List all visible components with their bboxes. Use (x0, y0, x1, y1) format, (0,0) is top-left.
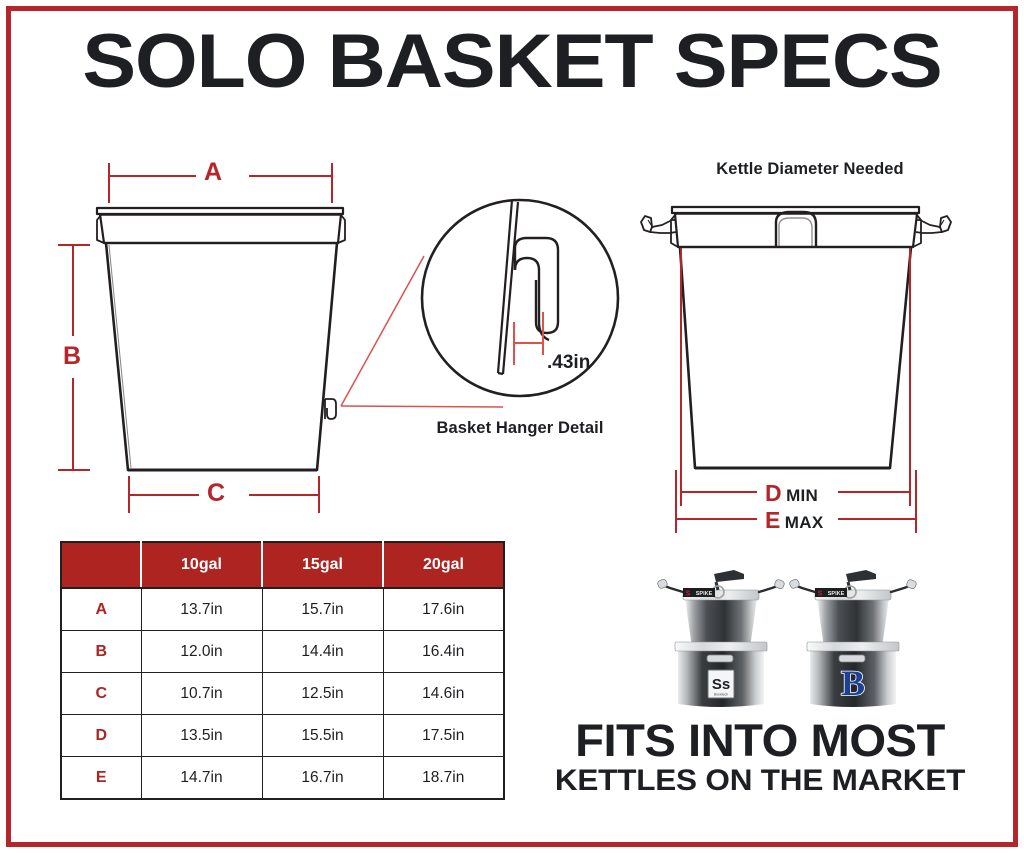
kettle-photo-blichmann: S SPIKE B (788, 552, 918, 712)
table-header-20gal: 20gal (383, 542, 504, 588)
cell-e-20gal: 18.7in (383, 757, 504, 800)
dimension-label-b: B (63, 344, 81, 369)
dimension-letter-e: E (765, 507, 780, 533)
table-row: C 10.7in 12.5in 14.6in (61, 673, 504, 715)
footer-subheadline: KETTLES ON THE MARKET (529, 766, 991, 796)
cell-a-15gal: 15.7in (262, 588, 383, 631)
dimension-letter-d: D (765, 480, 782, 506)
svg-text:SPIKE: SPIKE (828, 591, 845, 597)
cell-b-15gal: 14.4in (262, 631, 383, 673)
dimension-unit-max: MAX (785, 513, 824, 532)
footer-headline: FITS INTO MOST (529, 718, 991, 763)
page-title: SOLO BASKET SPECS (0, 24, 1024, 100)
ss-badge-text: Ss (712, 676, 730, 693)
kettle-photo-ss-brewtech: S SPIKE Ss Brewtech (656, 552, 786, 712)
svg-text:Brewtech: Brewtech (714, 693, 728, 697)
cell-c-20gal: 14.6in (383, 673, 504, 715)
cell-c-10gal: 10.7in (141, 673, 262, 715)
cell-e-10gal: 14.7in (141, 757, 262, 800)
table-header-15gal: 15gal (262, 542, 383, 588)
svg-text:S: S (818, 591, 823, 598)
spec-table-head: 10gal 15gal 20gal (61, 542, 504, 588)
table-header-row: 10gal 15gal 20gal (61, 542, 504, 588)
cell-b-10gal: 12.0in (141, 631, 262, 673)
row-label-e: E (61, 757, 141, 800)
table-row: D 13.5in 15.5in 17.5in (61, 715, 504, 757)
svg-text:S: S (686, 591, 691, 598)
cell-d-10gal: 13.5in (141, 715, 262, 757)
b-badge-text: B (841, 663, 865, 703)
cell-d-15gal: 15.5in (262, 715, 383, 757)
row-label-c: C (61, 673, 141, 715)
table-header-10gal: 10gal (141, 542, 262, 588)
cell-e-15gal: 16.7in (262, 757, 383, 800)
kettle-photo-group: S SPIKE Ss Brewtech (648, 552, 928, 717)
cell-b-20gal: 16.4in (383, 631, 504, 673)
table-row: E 14.7in 16.7in 18.7in (61, 757, 504, 800)
dimension-label-c: C (207, 481, 225, 506)
dimension-unit-min: MIN (786, 486, 818, 505)
spec-table: 10gal 15gal 20gal A 13.7in 15.7in 17.6in… (60, 541, 505, 800)
hook-dimension-label: .43in (547, 352, 590, 374)
dimension-label-a: A (204, 160, 222, 185)
row-label-d: D (61, 715, 141, 757)
hanger-detail-caption: Basket Hanger Detail (405, 419, 635, 438)
kettle-diagram-caption: Kettle Diameter Needed (640, 160, 980, 179)
svg-text:SPIKE: SPIKE (696, 591, 713, 597)
spec-sheet-page: SOLO BASKET SPECS (0, 0, 1024, 853)
table-row: A 13.7in 15.7in 17.6in (61, 588, 504, 631)
table-row: B 12.0in 14.4in 16.4in (61, 631, 504, 673)
row-label-a: A (61, 588, 141, 631)
cell-a-10gal: 13.7in (141, 588, 262, 631)
spec-table-body: A 13.7in 15.7in 17.6in B 12.0in 14.4in 1… (61, 588, 504, 799)
cell-c-15gal: 12.5in (262, 673, 383, 715)
dimension-label-d-min: D MIN (765, 482, 818, 505)
cell-a-20gal: 17.6in (383, 588, 504, 631)
row-label-b: B (61, 631, 141, 673)
table-header-corner (61, 542, 141, 588)
dimension-label-e-max: E MAX (765, 509, 823, 532)
cell-d-20gal: 17.5in (383, 715, 504, 757)
